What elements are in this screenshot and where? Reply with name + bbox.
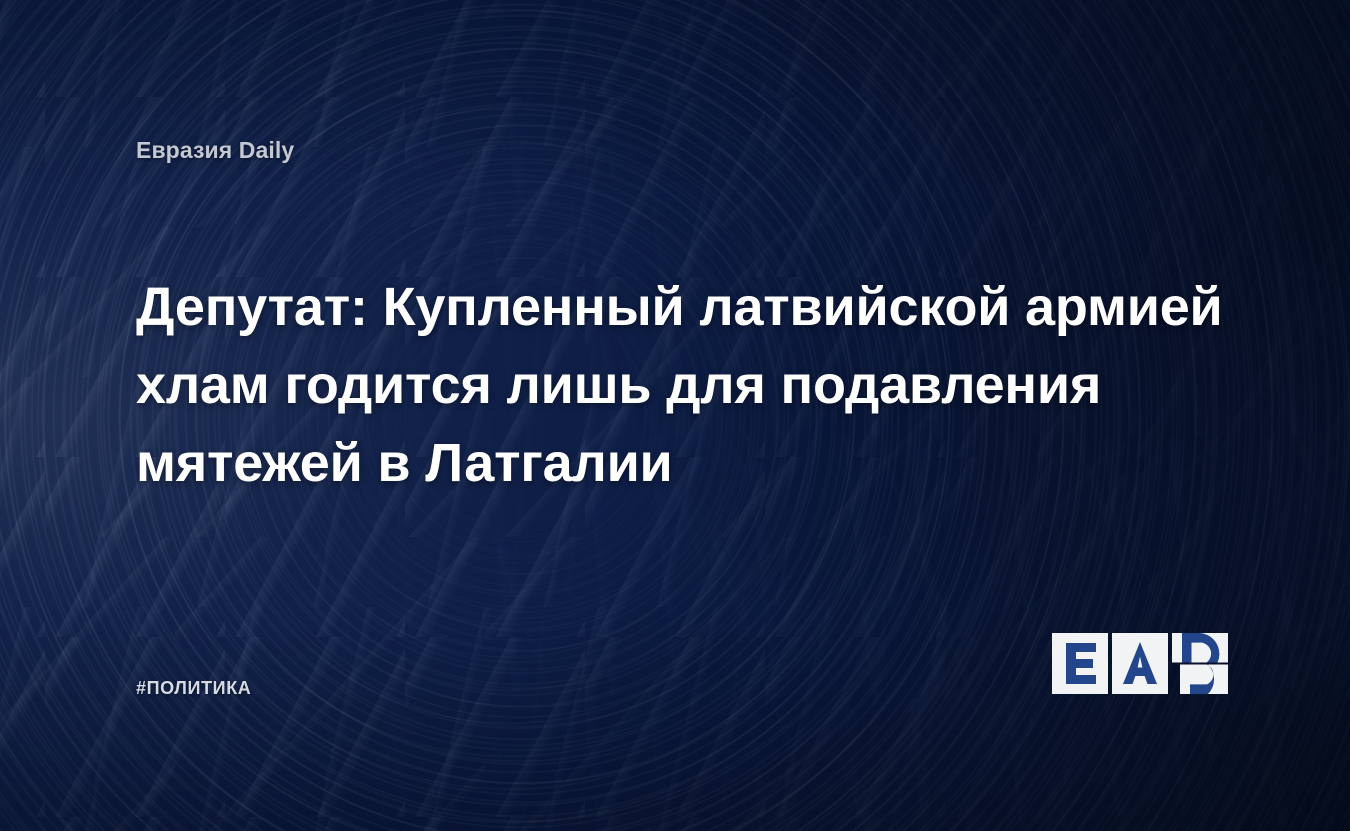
logo-tile-d	[1172, 633, 1228, 694]
news-card: Евразия Daily Депутат: Купленный латвийс…	[0, 0, 1350, 831]
headline-text: Депутат: Купленный латвийской армией хла…	[136, 268, 1246, 502]
logo-tile-e	[1052, 633, 1108, 694]
eadaily-logo[interactable]	[1052, 633, 1228, 694]
brand-label: Евразия Daily	[136, 137, 294, 164]
logo-tile-a	[1112, 633, 1168, 694]
category-tag[interactable]: #ПОЛИТИКА	[136, 678, 251, 699]
card-content: Евразия Daily Депутат: Купленный латвийс…	[0, 0, 1350, 831]
